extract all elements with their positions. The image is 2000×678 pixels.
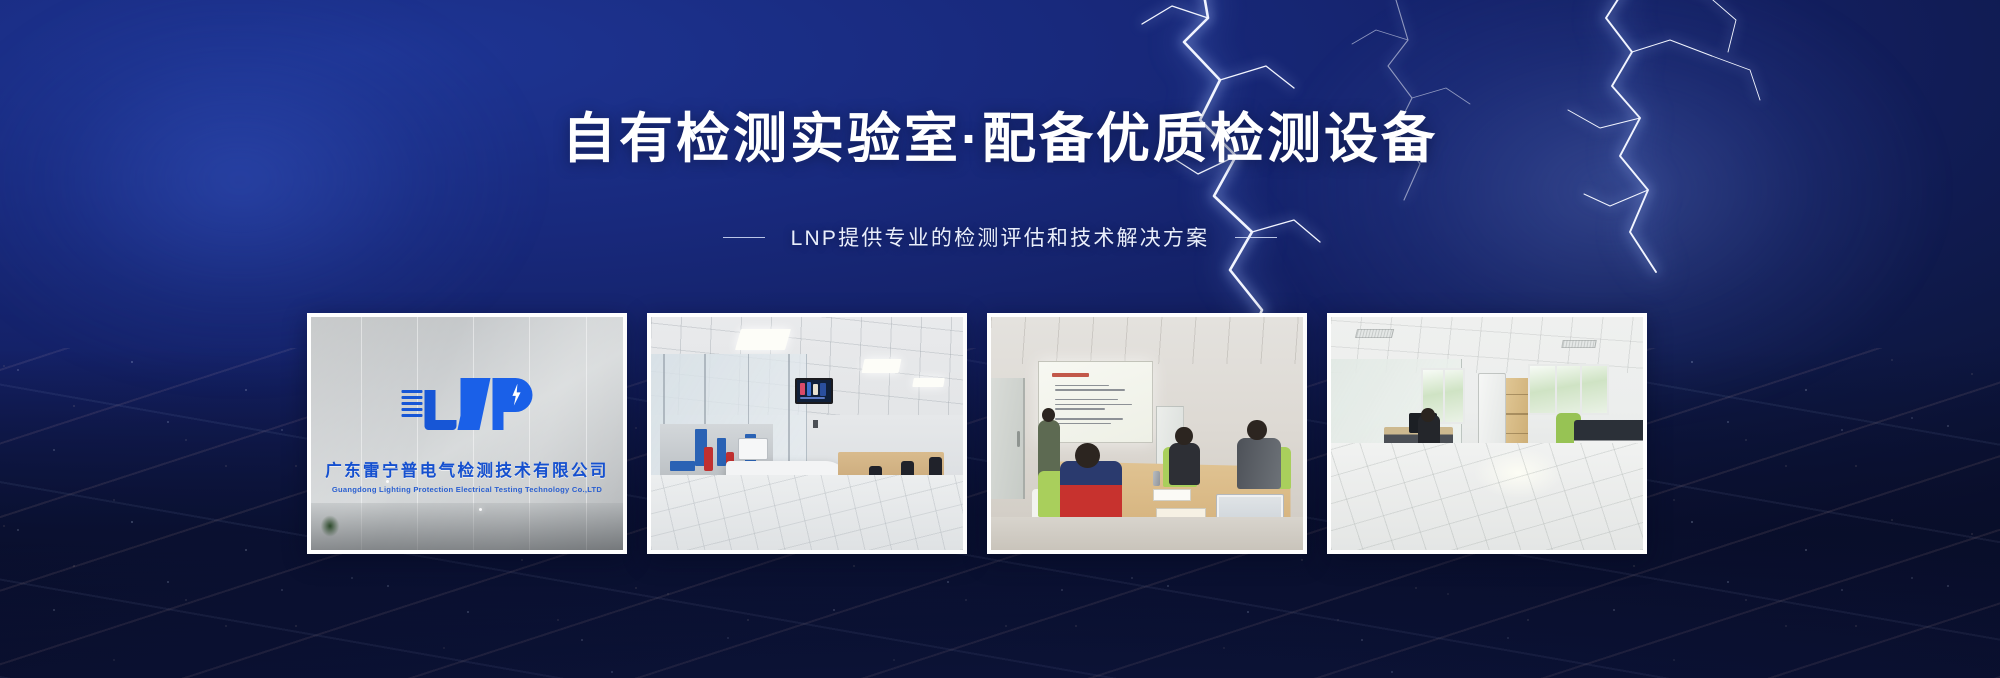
- photo-company-signage: 广东雷宁普电气检测技术有限公司 Guangdong Lighting Prote…: [311, 317, 623, 550]
- photo-meeting-training-room: [991, 317, 1303, 550]
- page-subtitle: LNP提供专业的检测评估和技术解决方案: [791, 222, 1210, 252]
- person-attendee-2: [1237, 438, 1281, 489]
- gallery-photo-testing-laboratory[interactable]: [647, 313, 967, 554]
- lnp-logo-icon: [402, 378, 533, 430]
- rule-right-icon: [1235, 237, 1277, 238]
- signage-chinese-name: 广东雷宁普电气检测技术有限公司: [325, 457, 609, 481]
- photo-office-workspace: [1331, 317, 1643, 550]
- rule-left-icon: [723, 237, 765, 238]
- gallery-photo-meeting-room[interactable]: [987, 313, 1307, 554]
- wall-monitor-icon: [795, 378, 833, 404]
- window-right: [1528, 364, 1609, 415]
- person-attendee-1: [1169, 443, 1200, 485]
- signage-english-name: Guangdong Lighting Protection Electrical…: [332, 485, 602, 494]
- logo-bolt-icon: [511, 384, 523, 406]
- gallery-photo-office[interactable]: [1327, 313, 1647, 554]
- desk-monitor-icon: [738, 438, 768, 460]
- hero-banner: 自有检测实验室·配备优质检测设备 LNP提供专业的检测评估和技术解决方案: [0, 0, 2000, 678]
- gallery-photo-company-signage[interactable]: 广东雷宁普电气检测技术有限公司 Guangdong Lighting Prote…: [307, 313, 627, 554]
- subtitle-row: LNP提供专业的检测评估和技术解决方案: [0, 222, 2000, 252]
- glass-door: [991, 378, 1025, 499]
- page-title: 自有检测实验室·配备优质检测设备: [0, 108, 2000, 170]
- photo-gallery: 广东雷宁普电气检测技术有限公司 Guangdong Lighting Prote…: [307, 313, 1647, 554]
- photo-testing-laboratory: [651, 317, 963, 550]
